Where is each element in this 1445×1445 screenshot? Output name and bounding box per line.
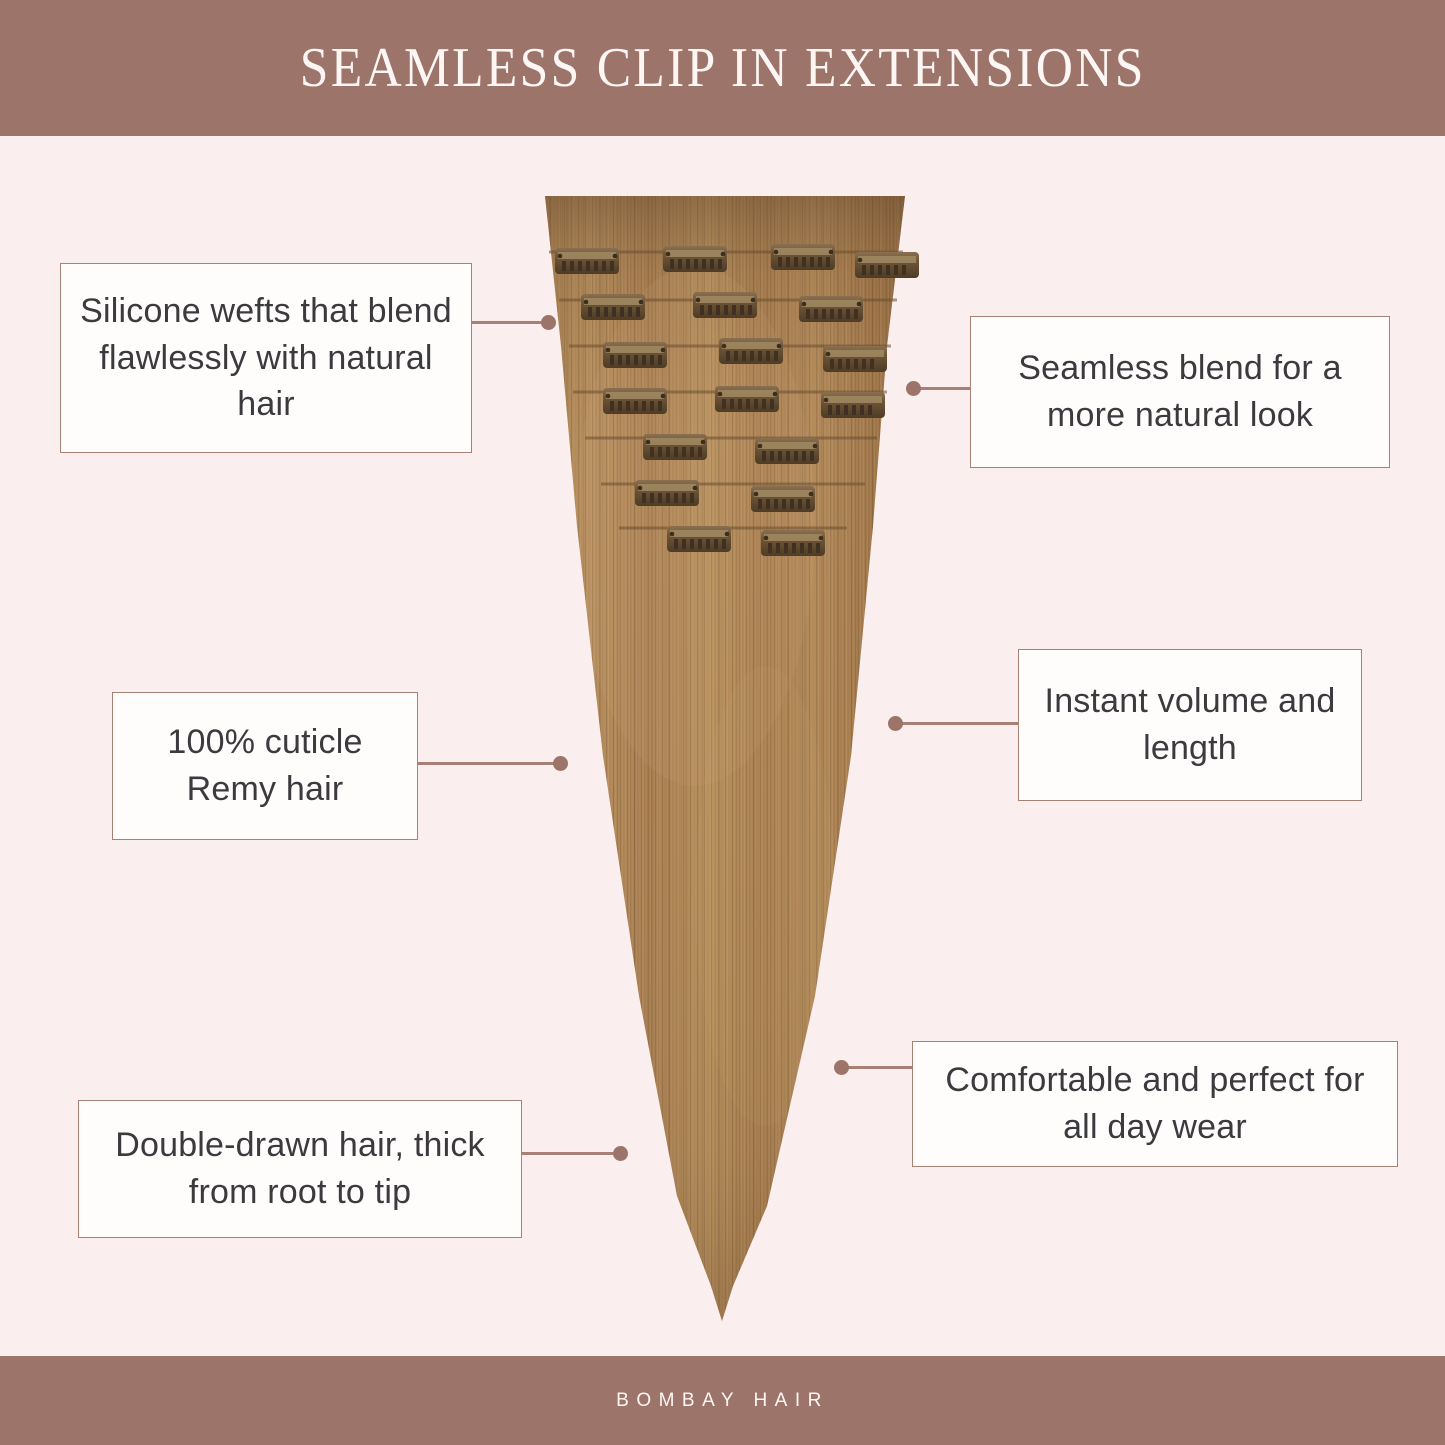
connector-dot-all-day-wear: [834, 1060, 849, 1075]
page-title: SEAMLESS CLIP IN EXTENSIONS: [300, 36, 1146, 100]
callout-double-drawn-text: Double-drawn hair, thick from root to ti…: [95, 1122, 505, 1216]
callout-seamless-blend-text: Seamless blend for a more natural look: [987, 345, 1373, 439]
callout-cuticle-remy-text: 100% cuticle Remy hair: [129, 719, 401, 813]
callout-double-drawn: Double-drawn hair, thick from root to ti…: [78, 1100, 522, 1238]
callout-instant-volume: Instant volume and length: [1018, 649, 1362, 801]
connector-line-double-drawn: [522, 1152, 620, 1155]
callout-instant-volume-text: Instant volume and length: [1035, 678, 1345, 772]
connector-line-silicone-wefts: [472, 321, 548, 324]
callout-silicone-wefts-text: Silicone wefts that blend flawlessly wit…: [77, 288, 455, 429]
connector-line-seamless-blend: [912, 387, 972, 390]
callout-silicone-wefts: Silicone wefts that blend flawlessly wit…: [60, 263, 472, 453]
brand-name: BOMBAY HAIR: [616, 1390, 829, 1412]
callout-cuticle-remy: 100% cuticle Remy hair: [112, 692, 418, 840]
callout-all-day-wear-text: Comfortable and perfect for all day wear: [929, 1057, 1381, 1151]
header-band: SEAMLESS CLIP IN EXTENSIONS: [0, 0, 1445, 136]
connector-dot-cuticle-remy: [553, 756, 568, 771]
connector-dot-instant-volume: [888, 716, 903, 731]
connector-dot-double-drawn: [613, 1146, 628, 1161]
callout-seamless-blend: Seamless blend for a more natural look: [970, 316, 1390, 468]
connector-line-all-day-wear: [840, 1066, 914, 1069]
footer-band: BOMBAY HAIR: [0, 1356, 1445, 1445]
connector-dot-silicone-wefts: [541, 315, 556, 330]
connector-line-cuticle-remy: [418, 762, 560, 765]
connector-line-instant-volume: [894, 722, 1020, 725]
callout-all-day-wear: Comfortable and perfect for all day wear: [912, 1041, 1398, 1167]
connector-dot-seamless-blend: [906, 381, 921, 396]
infographic-canvas: SEAMLESS CLIP IN EXTENSIONS: [0, 0, 1445, 1445]
